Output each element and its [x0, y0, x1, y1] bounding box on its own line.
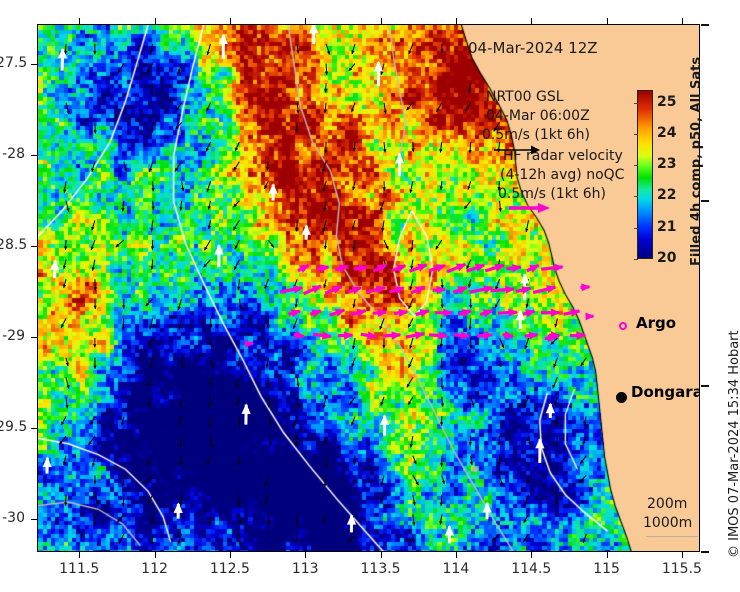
gsl-current-arrow-large: [302, 224, 311, 239]
hf-radar-velocity-arrow: [383, 331, 401, 339]
colorbar-tick: [634, 196, 638, 197]
gsl-current-arrow-small: [147, 456, 153, 466]
gsl-current-arrow-small: [90, 416, 95, 425]
dongara-marker-icon[interactable]: [616, 392, 627, 403]
x-axis-label: 115: [577, 561, 637, 577]
colorbar: [637, 90, 653, 259]
gsl-current-arrow-small: [237, 279, 240, 290]
hf-radar-velocity-arrow: [361, 331, 377, 339]
gsl-current-arrow-small: [181, 358, 184, 369]
gsl-current-arrow-small: [63, 181, 66, 193]
gsl-current-arrow-small: [383, 142, 386, 153]
y-axis-label: -30: [0, 510, 25, 526]
colorbar-tick: [634, 103, 638, 104]
gsl-current-arrow-small: [178, 318, 182, 330]
gsl-current-arrow-small: [497, 436, 500, 446]
gsl-current-arrow-small: [409, 44, 413, 55]
gsl-current-arrow-small: [408, 299, 413, 309]
gsl-current-arrow-small: [237, 495, 240, 507]
gsl-current-arrow-small: [410, 260, 413, 270]
hf-radar-velocity-arrow: [541, 309, 561, 317]
gsl-current-arrow-small: [526, 475, 529, 484]
gsl-current-arrow-small: [91, 240, 95, 250]
gsl-current-arrow-small: [116, 240, 124, 247]
gsl-current-arrow-small: [147, 377, 153, 386]
gsl-current-arrow-small: [324, 103, 327, 114]
gsl-current-arrow-small: [145, 299, 152, 307]
gsl-current-arrow-small: [264, 475, 268, 487]
gsl-current-arrow-small: [353, 475, 356, 485]
hf-radar-velocity-arrow: [389, 286, 405, 294]
gsl-current-arrow-small: [468, 83, 471, 93]
gsl-current-arrow-small: [91, 220, 95, 230]
x-axis-tick-top: [607, 18, 608, 24]
gsl-current-arrow-small: [409, 181, 413, 193]
hf-radar-velocity-arrow: [480, 309, 493, 317]
gsl-current-arrow-small: [383, 181, 386, 191]
x-axis-tick-top: [230, 18, 231, 24]
hf-radar-velocity-arrow: [245, 340, 255, 348]
hf-radar-velocity-arrow: [470, 285, 494, 293]
hf-radar-velocity-arrow: [313, 331, 332, 339]
gsl-current-arrow-small: [442, 475, 445, 484]
x-axis-tick: [305, 552, 306, 558]
gsl-current-arrow-small: [440, 338, 443, 348]
gsl-current-arrow-small: [178, 64, 182, 74]
gsl-current-arrow-small: [322, 162, 326, 173]
gsl-current-arrow-small: [441, 299, 444, 308]
gsl-current-arrow-small: [296, 103, 299, 114]
hf-radar-velocity-arrow: [533, 285, 556, 293]
gsl-current-arrow-large: [269, 183, 278, 200]
gsl-current-arrow-small: [384, 240, 388, 250]
gsl-current-arrow-small: [583, 436, 587, 445]
gsl-current-arrow-small: [500, 338, 505, 349]
hf-radar-velocity-arrow: [289, 309, 302, 317]
gsl-current-arrow-small: [208, 201, 211, 210]
gsl-current-arrow-small: [233, 220, 239, 230]
gsl-current-arrow-small: [63, 260, 66, 270]
gsl-current-arrow-small: [93, 338, 96, 348]
x-axis-label: 114.5: [501, 561, 561, 577]
hf-radar-velocity-arrow: [525, 332, 539, 340]
gsl-current-arrow-small: [323, 515, 326, 524]
gsl-current-arrow-small: [293, 318, 297, 329]
hf-radar-velocity-arrow: [429, 331, 448, 339]
hf-radar-velocity-arrow: [330, 309, 346, 317]
gsl-current-arrow-small: [295, 515, 298, 527]
gsl-current-arrow-small: [555, 495, 558, 505]
gsl-current-arrow-small: [470, 456, 473, 466]
y-axis-label: -28: [0, 146, 25, 162]
gsl-current-arrow-small: [380, 201, 384, 212]
gsl-current-arrow-small: [233, 201, 239, 208]
gsl-current-arrow-small: [179, 436, 182, 448]
gsl-current-arrow-small: [119, 534, 124, 544]
gsl-current-arrow-small: [441, 44, 444, 53]
gsl-current-arrow-small: [235, 240, 240, 250]
gsl-current-arrow-large: [445, 525, 454, 543]
hf-radar-velocity-arrow: [294, 331, 305, 339]
argo-label: Argo: [636, 314, 676, 332]
x-axis-label: 113: [275, 561, 335, 577]
gsl-current-arrow-small: [124, 162, 127, 172]
hf-radar-velocity-arrow: [366, 286, 386, 294]
gsl-current-arrow-small: [492, 534, 500, 541]
y-axis-tick: [31, 246, 37, 247]
gsl-current-arrow-small: [237, 358, 240, 367]
hf-radar-velocity-arrow: [373, 309, 388, 317]
gsl-current-arrow-small: [322, 220, 326, 232]
gsl-current-arrow-small: [555, 416, 558, 426]
gsl-current-arrow-small: [238, 416, 241, 426]
gsl-current-arrow-small: [204, 240, 210, 251]
gsl-current-arrow-small: [179, 416, 182, 426]
gsl-current-arrow-small: [467, 260, 471, 270]
hf-radar-velocity-arrow: [581, 283, 591, 291]
gsl-current-arrow-large: [309, 25, 318, 44]
gsl-current-arrow-small: [206, 142, 211, 152]
hf-radar-velocity-arrow: [298, 265, 310, 273]
gsl-current-arrow-small: [381, 397, 385, 406]
gsl-current-arrow-small: [208, 220, 211, 229]
gsl-current-arrow-small: [468, 181, 471, 190]
gsl-current-arrow-small: [293, 416, 297, 427]
x-axis-tick: [607, 552, 608, 558]
hf-radar-velocity-arrow: [541, 264, 564, 272]
hf-radar-velocity-arrow: [564, 309, 581, 317]
hf-legend-line2: (4-12h avg) noQC: [500, 166, 624, 185]
gsl-current-arrow-small: [523, 534, 528, 542]
colorbar-tick-label: 20: [657, 250, 676, 266]
gsl-current-arrow-small: [64, 495, 67, 506]
gsl-current-arrow-small: [63, 279, 66, 288]
hf-radar-velocity-arrow: [316, 264, 330, 272]
hf-radar-velocity-arrow: [435, 309, 453, 317]
x-axis-tick: [456, 552, 457, 558]
gsl-current-arrow-small: [265, 279, 269, 289]
gsl-current-arrow-small: [211, 358, 215, 368]
gsl-current-arrow-small: [408, 397, 413, 405]
gsl-current-arrow-small: [210, 338, 213, 348]
scalebar-label-1000m: 1000m: [643, 515, 692, 531]
gsl-current-arrow-small: [180, 495, 183, 506]
gsl-current-arrow-small: [413, 456, 417, 465]
x-axis-tick: [381, 552, 382, 558]
gsl-current-arrow-small: [469, 436, 472, 446]
gsl-current-arrow-small: [151, 260, 154, 270]
y-axis-tick: [31, 155, 37, 156]
gsl-current-arrow-small: [148, 338, 153, 346]
gsl-current-arrow-small: [349, 64, 355, 72]
gsl-current-arrow-small: [209, 416, 212, 428]
gsl-current-arrow-small: [178, 534, 182, 544]
gsl-current-arrow-small: [152, 201, 155, 211]
colorbar-tick-label: 21: [657, 219, 676, 235]
gsl-current-arrow-small: [554, 397, 557, 406]
gsl-current-arrow-small: [295, 436, 298, 447]
gsl-current-arrow-small: [266, 338, 269, 349]
gsl-current-arrow-small: [439, 515, 442, 525]
gsl-current-arrow-large: [242, 403, 251, 424]
argo-marker-icon[interactable]: [619, 322, 627, 330]
gsl-current-arrow-large: [43, 457, 52, 474]
gsl-current-arrow-small: [88, 436, 95, 445]
gsl-current-arrow-small: [151, 534, 154, 545]
gsl-current-arrow-small: [296, 44, 299, 54]
gsl-current-arrow-small: [413, 475, 419, 485]
gsl-current-arrow-large: [214, 244, 223, 267]
gsl-current-arrow-small: [207, 44, 211, 55]
gsl-current-arrow-small: [323, 279, 326, 288]
gsl-current-arrow-small: [121, 475, 124, 487]
hf-radar-velocity-arrow: [433, 286, 447, 294]
gsl-current-arrow-small: [268, 240, 274, 248]
y-axis-tick: [31, 428, 37, 429]
x-axis-tick-top: [381, 18, 382, 24]
gsl-current-arrow-small: [149, 318, 153, 329]
gsl-current-arrow-small: [267, 318, 270, 329]
gsl-current-arrow-small: [91, 162, 95, 173]
hf-radar-velocity-arrow: [335, 265, 349, 273]
gsl-current-arrow-small: [436, 240, 442, 250]
hf-radar-velocity-arrow: [467, 264, 486, 272]
x-axis-tick: [79, 552, 80, 558]
gsl-current-arrow-small: [117, 515, 124, 523]
gsl-current-arrow-small: [295, 534, 298, 544]
right-edge-tick: [701, 24, 709, 26]
gsl-current-arrow-small: [353, 142, 356, 152]
gsl-current-arrow-small: [407, 377, 413, 388]
gsl-current-arrow-small: [353, 299, 356, 308]
x-axis-label: 115.5: [652, 561, 712, 577]
hf-radar-velocity-arrow: [490, 286, 515, 294]
gsl-current-arrow-small: [208, 515, 211, 527]
gsl-current-arrow-small: [524, 397, 529, 408]
gsl-current-arrow-small: [93, 44, 96, 55]
gsl-current-arrow-small: [525, 338, 529, 349]
hf-radar-velocity-arrow: [506, 264, 522, 272]
gsl-current-arrow-small: [207, 181, 211, 192]
hf-radar-velocity-arrow: [570, 331, 586, 339]
gsl-current-arrow-small: [66, 358, 69, 367]
x-axis-tick: [230, 552, 231, 558]
colorbar-tick: [634, 165, 638, 166]
gsl-current-arrow-small: [325, 64, 328, 76]
gsl-current-arrow-small: [440, 358, 443, 370]
gsl-current-arrow-small: [408, 358, 413, 369]
gsl-current-arrow-large: [395, 153, 404, 176]
gsl-current-arrow-small: [295, 299, 298, 308]
colorbar-tick: [634, 134, 638, 135]
hf-radar-velocity-arrow: [338, 331, 354, 339]
x-axis-tick-top: [305, 18, 306, 24]
hf-radar-velocity-arrow: [453, 286, 468, 294]
gsl-current-arrow-small: [64, 240, 67, 250]
gsl-current-arrow-small: [410, 240, 413, 251]
gsl-current-arrow-small: [381, 475, 384, 486]
gsl-current-arrow-small: [471, 397, 475, 407]
gsl-current-arrow-small: [553, 377, 558, 389]
gsl-current-arrow-small: [408, 318, 413, 328]
gsl-current-arrow-small: [412, 534, 415, 543]
gsl-current-arrow-small: [209, 318, 212, 328]
gsl-current-arrow-small: [295, 220, 298, 232]
gsl-current-arrow-small: [122, 318, 125, 330]
hf-radar-velocity-arrow: [527, 265, 540, 273]
gsl-current-arrow-small: [92, 260, 95, 272]
gsl-current-arrow-small: [464, 201, 471, 210]
gsl-current-arrow-small: [149, 162, 153, 173]
y-axis-label: -28.5: [0, 237, 25, 253]
gsl-current-arrow-small: [66, 377, 70, 389]
date-title: 04-Mar-2024 12Z: [468, 39, 598, 57]
gsl-current-arrow-small: [121, 201, 124, 212]
hf-radar-velocity-arrow: [280, 285, 304, 293]
gsl-current-arrow-small: [151, 240, 154, 250]
hf-radar-velocity-arrow: [394, 309, 408, 317]
y-axis-tick: [31, 64, 37, 65]
gsl-current-arrow-small: [469, 142, 472, 154]
gsl-current-arrow-small: [94, 515, 97, 527]
gsl-current-arrow-small: [412, 515, 415, 527]
gsl-current-arrow-small: [413, 495, 416, 506]
gsl-current-arrow-small: [441, 279, 444, 289]
gsl-current-arrow-small: [66, 103, 70, 115]
hf-radar-velocity-arrow: [477, 331, 493, 339]
gsl-current-arrow-small: [528, 436, 531, 446]
gsl-current-arrow-small: [179, 201, 182, 211]
gsl-current-arrow-small: [323, 181, 327, 191]
gsl-current-arrow-small: [175, 122, 181, 130]
gsl-current-arrow-small: [324, 240, 327, 250]
gsl-current-arrow-small: [440, 495, 443, 506]
gsl-current-arrow-small: [349, 534, 355, 543]
gsl-current-arrow-small: [267, 397, 270, 408]
hf-legend-line1: HF radar velocity: [503, 147, 623, 166]
hf-radar-velocity-arrow: [348, 287, 362, 295]
gsl-legend-line2: 04-Mar 06:00Z: [486, 107, 590, 126]
right-edge-tick: [701, 385, 709, 387]
colorbar-tick-label: 22: [657, 187, 676, 203]
gsl-current-arrow-small: [296, 377, 299, 387]
hf-radar-velocity-arrow: [447, 264, 466, 272]
gsl-current-arrow-small: [580, 456, 586, 464]
gsl-current-arrow-small: [441, 377, 444, 389]
hf-radar-velocity-arrow: [406, 331, 425, 339]
gsl-current-arrow-small: [236, 377, 240, 388]
hf-radar-velocity-arrow: [516, 286, 532, 294]
gsl-current-arrow-large: [483, 502, 492, 519]
gsl-current-arrow-small: [468, 279, 471, 288]
gsl-current-arrow-small: [380, 318, 385, 330]
gsl-current-arrow-small: [179, 456, 182, 467]
x-axis-tick-top: [531, 18, 532, 24]
gsl-current-arrow-small: [147, 64, 153, 74]
gsl-current-arrow-small: [410, 436, 413, 448]
hf-radar-velocity-arrow: [354, 264, 368, 272]
hf-reference-arrow-icon: [508, 201, 552, 215]
gsl-legend-line1: NRT00 GSL: [486, 88, 564, 107]
gsl-current-arrow-small: [440, 181, 443, 190]
gsl-current-arrow-small: [181, 181, 184, 191]
gsl-current-arrow-small: [351, 103, 355, 113]
gsl-current-arrow-small: [239, 299, 242, 310]
gsl-current-arrow-small: [323, 475, 326, 487]
gsl-current-arrow-small: [179, 397, 182, 407]
gsl-current-arrow-small: [380, 495, 384, 503]
gsl-current-arrow-small: [65, 397, 68, 409]
gsl-current-arrow-small: [439, 142, 442, 153]
gsl-current-arrow-small: [178, 299, 182, 311]
gsl-current-arrow-small: [406, 103, 413, 111]
colorbar-tick-label: 23: [657, 156, 676, 172]
gsl-current-arrow-small: [323, 201, 326, 212]
gsl-current-arrow-small: [148, 495, 153, 504]
gsl-current-arrow-small: [118, 64, 124, 74]
scalebar-label-200m: 200m: [647, 496, 687, 512]
gsl-current-arrow-small: [323, 436, 326, 445]
scalebar-line: [646, 536, 698, 537]
x-axis-label: 114: [426, 561, 486, 577]
hf-radar-velocity-arrow: [392, 265, 406, 273]
gsl-current-arrow-small: [209, 377, 212, 387]
gsl-current-arrow-small: [525, 220, 528, 232]
sst-map-figure: { "figure": { "title_date": "04-Mar-2024…: [0, 0, 740, 592]
gsl-current-arrow-small: [578, 475, 586, 483]
gsl-current-arrow-small: [266, 358, 269, 369]
x-axis-tick: [531, 552, 532, 558]
y-axis-tick: [31, 337, 37, 338]
gsl-current-arrow-small: [94, 299, 97, 310]
gsl-current-arrow-small: [581, 358, 587, 367]
gsl-current-arrow-small: [409, 338, 413, 349]
gsl-current-arrow-small: [148, 397, 153, 407]
hf-radar-velocity-arrow: [498, 308, 518, 316]
gsl-current-arrow-small: [151, 122, 154, 133]
gsl-current-arrow-small: [500, 475, 503, 486]
gsl-current-arrow-small: [94, 122, 97, 134]
hf-radar-velocity-arrow: [310, 310, 322, 318]
map-plot-area[interactable]: 04-Mar-2024 12Z NRT00 GSL 04-Mar 06:00Z …: [37, 24, 700, 552]
gsl-current-arrow-small: [554, 318, 557, 327]
gsl-current-arrow-small: [59, 436, 66, 445]
x-axis-label: 112.5: [200, 561, 260, 577]
gsl-current-arrow-small: [150, 83, 153, 95]
gsl-current-arrow-large: [50, 259, 59, 278]
gsl-current-arrow-small: [203, 260, 210, 268]
gsl-current-arrow-small: [151, 515, 154, 525]
gsl-current-arrow-small: [63, 456, 66, 466]
gsl-current-arrow-small: [207, 456, 211, 466]
gsl-current-arrow-small: [145, 475, 153, 484]
vector-overlay: [38, 25, 700, 552]
gsl-current-arrow-large: [535, 438, 544, 463]
gsl-current-arrow-small: [176, 103, 182, 112]
x-axis-tick-top: [682, 18, 683, 24]
gsl-current-arrow-small: [469, 318, 472, 330]
gsl-current-arrow-large: [219, 34, 228, 59]
gsl-current-arrow-small: [268, 436, 272, 446]
gsl-current-arrow-small: [265, 495, 268, 505]
gsl-current-arrow-small: [208, 397, 211, 408]
gsl-current-arrow-small: [352, 181, 355, 190]
hf-radar-velocity-arrow: [503, 331, 515, 339]
gsl-current-arrow-small: [61, 318, 66, 328]
gsl-current-arrow-small: [92, 456, 95, 467]
gsl-current-arrow-small: [207, 103, 211, 112]
gsl-current-arrow-small: [122, 299, 125, 309]
